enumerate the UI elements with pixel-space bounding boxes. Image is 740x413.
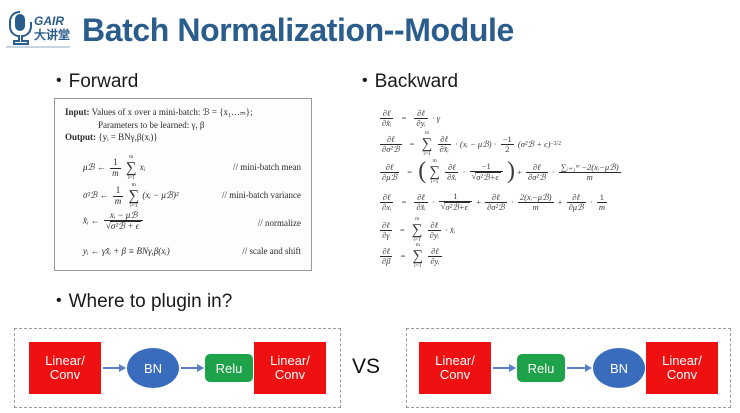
- dot-operator: ·: [432, 197, 435, 207]
- term-partial: ∂ℓ ∂σ²ℬ: [526, 163, 548, 182]
- term-denominator: ∂μℬ: [567, 202, 586, 212]
- logo-subtitle-text: 大讲堂: [34, 27, 70, 42]
- term-numerator: ∂ℓ: [485, 193, 507, 202]
- fraction-two-dev-over-m: 2(xᵢ−μℬ) m: [518, 193, 554, 212]
- lhs-partial: ∂ℓ ∂xᵢ: [380, 193, 393, 212]
- node-label: Relu: [528, 361, 555, 376]
- frac-numerator: xᵢ − μℬ: [104, 211, 143, 220]
- deviation-term: (xᵢ − μℬ): [460, 139, 492, 149]
- sum-sigma-glyph: ∑: [126, 161, 137, 176]
- term-partial: ∂ℓ ∂σ²ℬ: [485, 193, 507, 212]
- frac-numerator: 1: [439, 192, 472, 201]
- term-partial: ∂ℓ ∂x̂ᵢ: [445, 163, 458, 182]
- frac-numerator: 2(xᵢ−μℬ): [518, 193, 554, 202]
- frac-denominator: m: [597, 202, 607, 212]
- fraction-one-over-m: 1 m: [113, 186, 124, 206]
- section-label-plugin: Where to plugin in?: [69, 291, 233, 312]
- dot-operator: ·: [455, 139, 458, 149]
- algorithm-step-mean-expr: μℬ ← 1 m m ∑ i=1 xᵢ: [83, 155, 145, 181]
- lhs-denominator: ∂σ²ℬ: [380, 144, 402, 154]
- close-paren: ): [507, 162, 515, 181]
- step2-summand: (xᵢ − μℬ)²: [142, 190, 178, 200]
- summation-symbol: m ∑ i=1: [412, 217, 423, 243]
- backward-equation-dl-dx: ∂ℓ ∂xᵢ = ∂ℓ ∂x̂ᵢ · 1 √σ²ℬ+ϵ + ∂ℓ ∂σ²ℬ · …: [378, 186, 734, 216]
- algorithm-step-mean: μℬ ← 1 m m ∑ i=1 xᵢ // mini-batch mean: [65, 155, 305, 183]
- sum-sigma-glyph: ∑: [429, 165, 440, 180]
- step3-arrow: ←: [91, 216, 100, 226]
- term-partial: ∂ℓ ∂yᵢ: [414, 109, 427, 128]
- algorithm-output-label: Output:: [65, 132, 96, 142]
- step2-lhs: σ²ℬ: [83, 190, 97, 200]
- lhs-numerator: ∂ℓ: [380, 247, 392, 256]
- algorithm-step-variance-comment: // mini-batch variance: [222, 190, 301, 200]
- node-label: BN: [610, 361, 628, 376]
- slide-canvas: GAIR 大讲堂 Batch Normalization--Module •Fo…: [0, 0, 740, 413]
- frac-numerator: −1: [501, 135, 514, 144]
- plus-operator: +: [517, 167, 522, 177]
- lhs-partial: ∂ℓ ∂γ: [380, 221, 392, 240]
- sum-sigma-glyph: ∑: [422, 137, 433, 152]
- term-numerator: ∂ℓ: [428, 247, 441, 256]
- term-numerator: ∂ℓ: [567, 193, 586, 202]
- summation-symbol: m ∑ i=1: [126, 155, 137, 181]
- equals-sign: =: [401, 197, 406, 207]
- bullet-dot: •: [56, 292, 62, 310]
- gair-logo: GAIR 大讲堂: [6, 8, 70, 50]
- lhs-denominator: ∂γ: [380, 230, 392, 240]
- bullet-dot: •: [362, 72, 368, 90]
- algorithm-step-normalize-comment: // normalize: [258, 218, 301, 228]
- algorithm-step-variance-expr: σ²ℬ ← 1 m m ∑ i=1 (xᵢ − μℬ)²: [83, 183, 179, 209]
- equals-sign: =: [407, 167, 412, 177]
- dot-operator: ·: [494, 139, 497, 149]
- frac-denominator: m: [113, 196, 124, 206]
- algorithm-input-text2: Parameters to be learned: γ, β: [98, 120, 205, 130]
- term-denominator: ∂σ²ℬ: [485, 202, 507, 212]
- algorithm-steps: μℬ ← 1 m m ∑ i=1 xᵢ // mini-batch mean: [65, 155, 305, 267]
- sum-sigma-glyph: ∑: [412, 249, 423, 264]
- summation-symbol: m ∑ i=1: [422, 131, 433, 157]
- node-label-line1: Linear/: [435, 354, 475, 368]
- algorithm-input-row2: Parameters to be learned: γ, β: [65, 119, 303, 132]
- term-numerator: ∂ℓ: [526, 163, 548, 172]
- lhs-denominator: ∂β: [380, 256, 392, 266]
- dot-operator: ·: [590, 197, 593, 207]
- node-relu[interactable]: Relu: [517, 354, 565, 382]
- backward-equations: ∂ℓ ∂x̂ᵢ = ∂ℓ ∂yᵢ · γ ∂ℓ ∂σ²ℬ = m ∑ i=1: [378, 104, 734, 268]
- exponent: −3/2: [550, 141, 561, 147]
- algorithm-step-normalize: x̂ᵢ ← xᵢ − μℬ √σ²ℬ + ϵ // normalize: [65, 211, 305, 239]
- node-label-line1: Linear/: [45, 354, 85, 368]
- microphone-icon: GAIR 大讲堂: [6, 8, 70, 50]
- lhs-denominator: ∂μℬ: [380, 172, 399, 182]
- dot-operator: ·: [463, 167, 466, 177]
- vs-label: VS: [352, 355, 380, 379]
- term-numerator: ∂ℓ: [414, 109, 427, 118]
- node-label: Relu: [216, 361, 243, 376]
- section-heading-backward: •Backward: [362, 71, 458, 93]
- term-denominator: ∂yᵢ: [428, 230, 441, 240]
- node-label-line2: Conv: [440, 368, 470, 382]
- radicand: σ²ℬ + ϵ: [110, 221, 141, 231]
- algorithm-input-text1: Values of x over a mini-batch: ℬ = {x₁…ₘ…: [92, 107, 253, 117]
- algorithm-input-row1: Input: Values of x over a mini-batch: ℬ …: [65, 106, 303, 119]
- frac-denominator: m: [518, 202, 554, 212]
- lhs-numerator: ∂ℓ: [380, 109, 393, 118]
- frac-denominator: √σ²ℬ+ϵ: [470, 171, 503, 182]
- plus-operator: +: [558, 197, 563, 207]
- plus-operator: +: [476, 197, 481, 207]
- step2-arrow: ←: [99, 190, 108, 200]
- frac-numerator: −1: [470, 162, 503, 171]
- step4-arrow: ←: [91, 246, 100, 256]
- dot-operator: ·: [432, 113, 435, 123]
- backward-equation-dl-dmu: ∂ℓ ∂μℬ = ( m ∑ i=1 ∂ℓ ∂x̂ᵢ · −1 √σ²ℬ+ϵ )…: [378, 156, 734, 186]
- fraction-one-over-m: 1 m: [110, 158, 121, 178]
- logo-brand-text: GAIR: [34, 14, 64, 28]
- frac-numerator: ∑ᵢ₌₁ᵐ −2(xᵢ−μℬ): [559, 163, 621, 172]
- section-label-backward: Backward: [375, 71, 458, 92]
- arrow-2: [567, 367, 591, 369]
- frac-numerator: 1: [597, 193, 607, 202]
- step1-arrow: ←: [97, 162, 106, 172]
- algorithm-step-scale-shift-comment: // scale and shift: [242, 246, 301, 256]
- node-label-line1: Linear/: [662, 354, 702, 368]
- lhs-partial: ∂ℓ ∂β: [380, 247, 392, 266]
- variance-epsilon-term: (σ²ℬ + ϵ): [518, 139, 551, 149]
- term-partial: ∂ℓ ∂x̂ᵢ: [414, 193, 427, 212]
- equals-sign: =: [401, 251, 406, 261]
- node-label-line2: Conv: [275, 368, 305, 382]
- algorithm-io-header: Input: Values of x over a mini-batch: ℬ …: [65, 106, 303, 144]
- node-bn[interactable]: BN: [593, 348, 645, 388]
- summation-symbol: m ∑ i=1: [128, 183, 139, 209]
- equals-sign: =: [410, 139, 415, 149]
- node-linear-conv-input[interactable]: Linear/ Conv: [29, 342, 101, 394]
- term-numerator: ∂ℓ: [414, 193, 427, 202]
- section-heading-forward: •Forward: [56, 71, 138, 93]
- sum-lower-limit: i=1: [126, 176, 137, 182]
- sum-sigma-glyph: ∑: [412, 223, 423, 238]
- algorithm-step-variance: σ²ℬ ← 1 m m ∑ i=1 (xᵢ − μℬ)² // mini-bat…: [65, 183, 305, 211]
- node-label-line1: Linear/: [270, 354, 310, 368]
- frac-denominator: 2: [501, 144, 514, 154]
- arrow-1: [103, 367, 125, 369]
- term-partial: ∂ℓ ∂yᵢ: [428, 247, 441, 266]
- summation-symbol: m ∑ i=1: [412, 243, 423, 269]
- node-bn[interactable]: BN: [127, 348, 179, 388]
- lhs-denominator: ∂x̂ᵢ: [380, 118, 393, 128]
- frac-denominator: √σ²ℬ + ϵ: [104, 220, 143, 231]
- term-denominator: ∂x̂ᵢ: [438, 144, 451, 154]
- open-paren: (: [418, 162, 426, 181]
- fraction-normalize: xᵢ − μℬ √σ²ℬ + ϵ: [104, 211, 143, 232]
- node-linear-conv-input[interactable]: Linear/ Conv: [419, 342, 491, 394]
- lhs-numerator: ∂ℓ: [380, 193, 393, 202]
- pipeline-diagram-bn-before-relu: Linear/ Conv BN Relu Linear/ Conv: [14, 328, 341, 408]
- lhs-partial: ∂ℓ ∂σ²ℬ: [380, 135, 402, 154]
- sum-lower-limit: i=1: [429, 180, 440, 186]
- equals-sign: =: [400, 225, 405, 235]
- backward-equation-dl-dsigma2: ∂ℓ ∂σ²ℬ = m ∑ i=1 ∂ℓ ∂x̂ᵢ · (xᵢ − μℬ) · …: [378, 130, 734, 156]
- frac-numerator: 1: [113, 186, 124, 195]
- frac-denominator: √σ²ℬ+ϵ: [439, 201, 472, 212]
- sum-lower-limit: i=1: [128, 204, 139, 210]
- fraction-one-over-m: 1 m: [597, 193, 607, 212]
- step3-lhs: x̂ᵢ: [83, 216, 88, 226]
- dot-operator: ·: [552, 167, 555, 177]
- fraction-neg-half: −1 2: [501, 135, 514, 154]
- lhs-numerator: ∂ℓ: [380, 221, 392, 230]
- radicand: σ²ℬ+ϵ: [444, 202, 470, 212]
- term-numerator: ∂ℓ: [445, 163, 458, 172]
- pipeline-diagram-bn-after-relu: Linear/ Conv Relu BN Linear/ Conv: [406, 328, 731, 408]
- algorithm-output-text: {yᵢ = BNγ,β(xᵢ)}: [98, 132, 157, 142]
- sum-lower-limit: i=1: [412, 264, 423, 270]
- frac-denominator: m: [110, 168, 121, 178]
- forward-algorithm-box: Input: Values of x over a mini-batch: ℬ …: [54, 98, 312, 271]
- step4-lhs: yᵢ: [83, 246, 88, 256]
- step1-lhs: μℬ: [83, 162, 95, 172]
- dot-operator: ·: [445, 225, 448, 235]
- backward-equation-dl-dbeta: ∂ℓ ∂β = m ∑ i=1 ∂ℓ ∂yᵢ: [378, 242, 734, 268]
- term-partial: ∂ℓ ∂x̂ᵢ: [438, 135, 451, 154]
- frac-denominator: m: [559, 172, 621, 182]
- backward-equation-dl-dxhat: ∂ℓ ∂x̂ᵢ = ∂ℓ ∂yᵢ · γ: [378, 104, 734, 130]
- algorithm-step-scale-shift: yᵢ ← γx̂ᵢ + β ≡ BNγ,β(xᵢ) // scale and s…: [65, 239, 305, 267]
- term-partial: ∂ℓ ∂yᵢ: [428, 221, 441, 240]
- arrow-1: [493, 367, 515, 369]
- term-numerator: ∂ℓ: [428, 221, 441, 230]
- algorithm-step-mean-comment: // mini-batch mean: [233, 162, 301, 172]
- algorithm-output-row: Output: {yᵢ = BNγ,β(xᵢ)}: [65, 131, 303, 144]
- summation-symbol: m ∑ i=1: [429, 159, 440, 185]
- node-relu[interactable]: Relu: [205, 354, 253, 382]
- term-denominator: ∂yᵢ: [428, 256, 441, 266]
- algorithm-input-label: Input:: [65, 107, 90, 117]
- node-linear-conv-output[interactable]: Linear/ Conv: [646, 342, 718, 394]
- fraction-sum-over-m: ∑ᵢ₌₁ᵐ −2(xᵢ−μℬ) m: [559, 163, 621, 182]
- algorithm-step-scale-shift-expr: yᵢ ← γx̂ᵢ + β ≡ BNγ,β(xᵢ): [83, 246, 170, 256]
- algorithm-step-normalize-expr: x̂ᵢ ← xᵢ − μℬ √σ²ℬ + ϵ: [83, 211, 145, 232]
- fraction-one-over-sqrt: 1 √σ²ℬ+ϵ: [439, 192, 472, 212]
- arrow-2: [181, 367, 203, 369]
- term-denominator: ∂x̂ᵢ: [445, 172, 458, 182]
- node-label-line2: Conv: [667, 368, 697, 382]
- step1-summand: xᵢ: [140, 162, 145, 172]
- equals-sign: =: [401, 113, 406, 123]
- dot-operator: ·: [511, 197, 514, 207]
- section-heading-plugin: •Where to plugin in?: [56, 291, 232, 313]
- backward-equation-dl-dgamma: ∂ℓ ∂γ = m ∑ i=1 ∂ℓ ∂yᵢ · x̂ᵢ: [378, 216, 734, 242]
- term-denominator: ∂σ²ℬ: [526, 172, 548, 182]
- section-label-forward: Forward: [69, 71, 139, 92]
- lhs-partial: ∂ℓ ∂μℬ: [380, 163, 399, 182]
- xhat-term: x̂ᵢ: [450, 225, 455, 235]
- fraction-neg-one-over-sqrt: −1 √σ²ℬ+ϵ: [470, 162, 503, 182]
- term-partial: ∂ℓ ∂μℬ: [567, 193, 586, 212]
- lhs-denominator: ∂xᵢ: [380, 202, 393, 212]
- bullet-dot: •: [56, 72, 62, 90]
- gamma-symbol: γ: [437, 113, 440, 123]
- page-title: Batch Normalization--Module: [82, 12, 514, 49]
- step4-expr: γx̂ᵢ + β ≡ BNγ,β(xᵢ): [102, 246, 170, 256]
- term-numerator: ∂ℓ: [438, 135, 451, 144]
- node-label-line2: Conv: [50, 368, 80, 382]
- lhs-numerator: ∂ℓ: [380, 135, 402, 144]
- lhs-partial: ∂ℓ ∂x̂ᵢ: [380, 109, 393, 128]
- term-denominator: ∂x̂ᵢ: [414, 202, 427, 212]
- radicand: σ²ℬ+ϵ: [475, 172, 501, 182]
- term-denominator: ∂yᵢ: [414, 118, 427, 128]
- sum-sigma-glyph: ∑: [128, 189, 139, 204]
- frac-numerator: 1: [110, 158, 121, 167]
- lhs-numerator: ∂ℓ: [380, 163, 399, 172]
- node-linear-conv-output[interactable]: Linear/ Conv: [254, 342, 326, 394]
- node-label: BN: [144, 361, 162, 376]
